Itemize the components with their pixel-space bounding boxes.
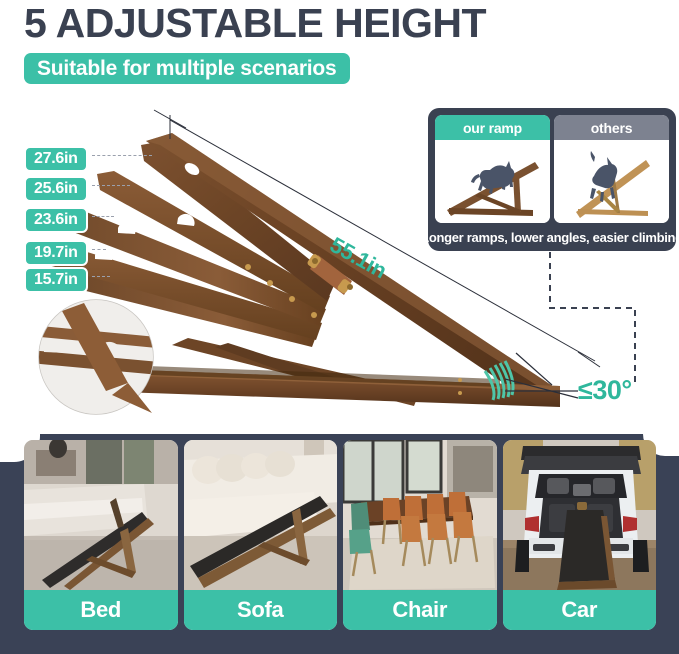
scenario-label-car: Car <box>503 590 657 630</box>
height-leader-4 <box>92 249 106 250</box>
comparison-box: our ramp <box>428 108 676 251</box>
scenario-panel-bed[interactable]: Bed <box>24 440 178 630</box>
sofa-scene-icon <box>184 440 338 590</box>
chair-scene-icon <box>343 440 497 590</box>
height-leader-1 <box>92 155 152 156</box>
dog-silhouette-icon <box>590 151 617 202</box>
comparison-others-image <box>554 140 669 223</box>
infographic-root: 5 ADJUSTABLE HEIGHT Suitable for multipl… <box>0 0 679 654</box>
connector-svg <box>420 250 679 385</box>
height-label-2: 25.6in <box>24 176 88 202</box>
scenario-panel-car[interactable]: Car <box>503 440 657 630</box>
our-ramp-icon <box>435 140 550 223</box>
scenario-image-bed <box>24 440 178 590</box>
others-ramp-icon <box>554 140 669 223</box>
comparison-caption: Longer ramps, lower angles, easier climb… <box>435 223 669 251</box>
dog-silhouette-icon <box>471 161 514 194</box>
car-scene-icon <box>503 440 657 590</box>
comparison-column-others: others <box>554 115 669 223</box>
height-label-4: 19.7in <box>24 240 88 266</box>
height-label-5: 15.7in <box>24 267 88 293</box>
height-label-3: 23.6in <box>24 207 88 233</box>
scenario-label-bed: Bed <box>24 590 178 630</box>
comparison-connector <box>420 250 679 385</box>
scenario-image-chair <box>343 440 497 590</box>
magnifier-inset-icon <box>30 300 170 414</box>
scenario-panel-chair[interactable]: Chair <box>343 440 497 630</box>
page-title: 5 ADJUSTABLE HEIGHT <box>24 0 644 46</box>
comparison-ours-header: our ramp <box>435 115 550 140</box>
scenario-image-car <box>503 440 657 590</box>
height-label-1: 27.6in <box>24 146 88 172</box>
comparison-column-ours: our ramp <box>435 115 550 223</box>
comparison-others-header: others <box>554 115 669 140</box>
subtitle-badge: Suitable for multiple scenarios <box>24 53 350 84</box>
scenario-panels: Bed <box>24 440 656 630</box>
scenario-label-sofa: Sofa <box>184 590 338 630</box>
comparison-ours-image <box>435 140 550 223</box>
scenario-label-chair: Chair <box>343 590 497 630</box>
scenario-image-sofa <box>184 440 338 590</box>
scenario-panel-sofa[interactable]: Sofa <box>184 440 338 630</box>
height-leader-2 <box>92 185 130 186</box>
height-leader-5 <box>92 276 110 277</box>
comparison-columns: our ramp <box>435 115 669 223</box>
bed-scene-icon <box>24 440 178 590</box>
subtitle-text: Suitable for multiple scenarios <box>37 57 337 81</box>
height-leader-3 <box>92 216 114 217</box>
